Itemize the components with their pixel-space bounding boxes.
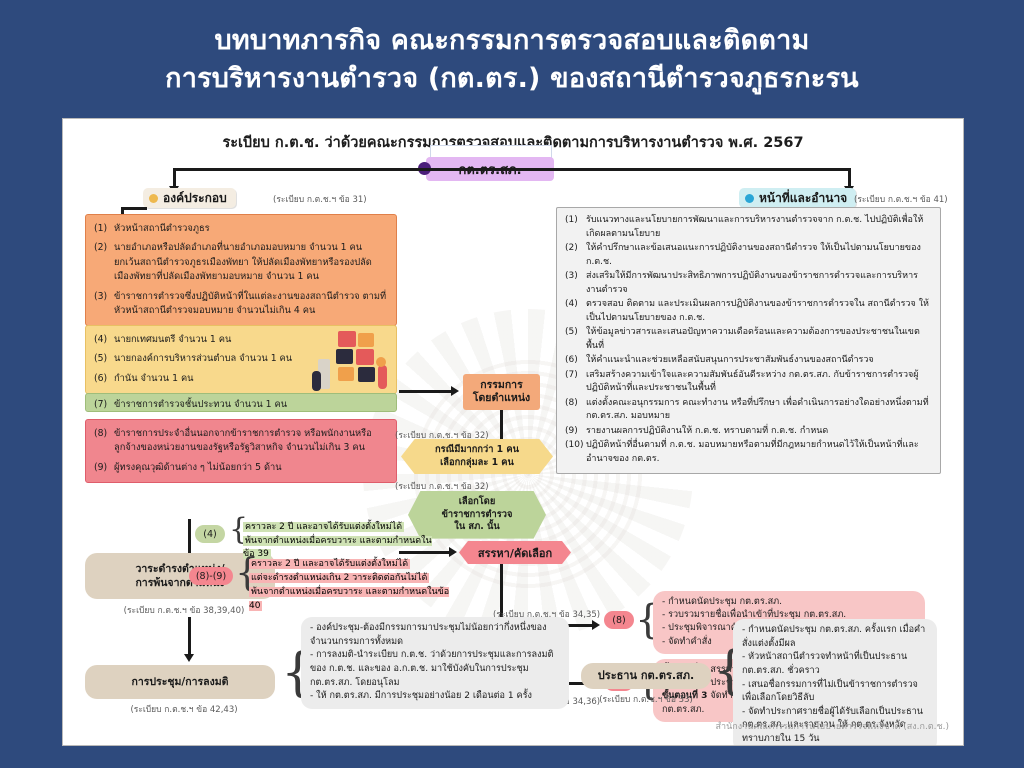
composition-group-pink: (8)ข้าราชการประจำอื่นนอกจากข้าราชการตำรว…: [85, 419, 397, 483]
step8-line-1: - กำหนดนัดประชุม กต.ตร.สภ.: [662, 596, 916, 609]
list-item: (6)ให้คำแนะนำและช่วยเหลือสนับสนุนการประช…: [565, 354, 932, 368]
item-number: (10): [565, 439, 583, 453]
list-item: (5)ให้ข้อมูลข่าวสารและเสนอปัญหาความเดือด…: [565, 326, 932, 353]
infographic-canvas: ระเบียบ ก.ต.ช. ว่าด้วยคณะกรรมการตรวจสอบแ…: [62, 118, 964, 746]
item-number: (4): [94, 333, 107, 347]
item-text: นายอำเภอหรือปลัดอำเภอที่นายอำเภอมอบหมาย …: [114, 242, 372, 282]
bullet-icon: [149, 194, 158, 203]
list-item: (9)ผู้ทรงคุณวุฒิด้านต่าง ๆ ไม่น้อยกว่า 5…: [94, 461, 388, 475]
item-number: (7): [565, 369, 578, 383]
meeting-notes-bubble: - องค์ประชุม-ต้องมีกรรมการมาประชุมไม่น้อ…: [301, 617, 569, 709]
conn-term-to-meeting: [188, 617, 191, 657]
list-item: (2)นายอำเภอหรือปลัดอำเภอที่นายอำเภอมอบหม…: [94, 241, 388, 284]
item-number: (7): [94, 398, 107, 412]
item-number: (3): [565, 270, 578, 284]
list-item: (7)เสริมสร้างความเข้าใจและความสัมพันธ์อั…: [565, 369, 932, 396]
trunk-right-drop: [848, 168, 851, 188]
item-text: นายกเทศมนตรี จำนวน 1 คน: [114, 334, 231, 345]
chairman-ref: (ระเบียบ ก.ต.ช.ฯ ข้อ 33): [581, 692, 711, 706]
branch-duties[interactable]: หน้าที่และอำนาจ: [739, 188, 856, 208]
item-text: นายกองค์การบริหารส่วนตำบล จำนวน 1 คน: [114, 353, 292, 364]
term-note-89: คราวละ 2 ปี และอาจได้รับแต่งตั้งใหม่ได้ …: [249, 558, 454, 614]
puzzle-illustration-icon: [308, 331, 392, 393]
item-number: (6): [565, 354, 578, 368]
meeting-node[interactable]: การประชุม/การลงมติ: [85, 665, 275, 699]
list-item: (8)ข้าราชการประจำอื่นนอกจากข้าราชการตำรว…: [94, 427, 388, 456]
duties-box: (1)รับแนวทางและนโยบายการพัฒนาและการบริหา…: [556, 207, 941, 474]
term-note89-line3: พ้นจากตำแหน่งเมื่อครบวาระ และตามกำหนดในข…: [249, 587, 449, 611]
item-text: รายงานผลการปฏิบัติงานให้ ก.ต.ช. ทราบตามท…: [586, 426, 828, 436]
item-text: ตรวจสอบ ติดตาม และประเมินผลการปฏิบัติงาน…: [586, 299, 929, 323]
item-number: (4): [565, 298, 578, 312]
item-text: ส่งเสริมให้มีการพัฒนาประสิทธิภาพการปฏิบั…: [586, 271, 918, 295]
note-green-ref: (ระเบียบ ก.ต.ช.ฯ ข้อ 32): [395, 479, 489, 493]
item-text: ให้ข้อมูลข่าวสารและเสนอปัญหาความเดือดร้อ…: [586, 327, 920, 351]
item-text: ให้คำปรึกษาและข้อเสนอแนะการปฏิบัติงานของ…: [586, 243, 921, 267]
composition-orange-list: (1)หัวหน้าสถานีตำรวจภูธร (2)นายอำเภอหรือ…: [94, 222, 388, 318]
term-note89-line1: คราวละ 2 ปี และอาจได้รับแต่งตั้งใหม่ได้: [249, 559, 410, 569]
marker-4-label: (4): [203, 529, 216, 540]
list-item: (7)ข้าราชการตำรวจชั้นประทวน จำนวน 1 คน: [94, 398, 388, 412]
item-text: ปฏิบัติหน้าที่อื่นตามที่ ก.ต.ช. มอบหมายห…: [586, 440, 919, 464]
branch-composition-label: องค์ประกอบ: [163, 189, 227, 208]
marker-8-9-label: (8)-(9): [196, 571, 226, 582]
term-note4-line1: คราวละ 2 ปี และอาจได้รับแต่งตั้งใหม่ได้: [243, 522, 404, 532]
arrow-right-icon: [592, 620, 600, 630]
item-number: (2): [94, 241, 107, 255]
chairman-note-3: - เสนอชื่อกรรมการที่ไม่เป็นข้าราชการตำรว…: [742, 679, 928, 706]
list-item: (9)รายงานผลการปฏิบัติงานให้ ก.ต.ช. ทราบต…: [565, 425, 932, 439]
recruit-label: สรรหา/คัดเลือก: [478, 544, 552, 562]
item-number: (8): [94, 427, 107, 441]
ex-officio-line2: โดยตำแหน่ง: [473, 392, 530, 405]
ex-officio-node[interactable]: กรรมการ โดยตำแหน่ง: [463, 374, 540, 410]
conn-orange-to-exofficio: [399, 390, 451, 393]
note-yellow: กรณีมีมากกว่า 1 คน เลือกกลุ่มละ 1 คน: [401, 439, 553, 474]
item-text: ให้คำแนะนำและช่วยเหลือสนับสนุนการประชาสั…: [586, 355, 874, 365]
composition-spine-h: [121, 207, 147, 210]
note-green-line2: ข้าราชการตำรวจ: [442, 509, 513, 520]
list-item: (10)ปฏิบัติหน้าที่อื่นตามที่ ก.ต.ช. มอบห…: [565, 439, 932, 466]
chairman-label: ประธาน กต.ตร.สภ.: [598, 669, 694, 684]
recruit-node[interactable]: สรรหา/คัดเลือก: [459, 541, 571, 564]
title-line-2: การบริหารงานตำรวจ (กต.ตร.) ของสถานีตำรวจ…: [0, 60, 1024, 98]
trunk-left-drop: [173, 168, 176, 188]
chairman-note-2: - หัวหน้าสถานีตำรวจทำหน้าที่เป็นประธาน ก…: [742, 651, 928, 678]
chairman-note-1: - กำหนดนัดประชุม กต.ตร.สภ. ครั้งแรก เมื่…: [742, 624, 928, 651]
branch-duties-ref: (ระเบียบ ก.ต.ช.ฯ ข้อ 41): [854, 192, 948, 206]
term-note89-line2: แต่จะดำรงตำแหน่งเกิน 2 วาระติดต่อกันไม่ไ…: [249, 573, 429, 583]
meeting-label: การประชุม/การลงมติ: [132, 675, 229, 689]
meeting-ref: (ระเบียบ ก.ต.ช.ฯ ข้อ 42,43): [89, 702, 279, 716]
item-number: (2): [565, 242, 578, 256]
page-title: บทบาทภารกิจ คณะกรรมการตรวจสอบและติดตาม ก…: [0, 22, 1024, 99]
duties-list: (1)รับแนวทางและนโยบายการพัฒนาและการบริหา…: [565, 214, 932, 466]
item-number: (9): [565, 425, 578, 439]
list-item: (8)แต่งตั้งคณะอนุกรรมการ คณะทำงาน หรือที…: [565, 397, 932, 424]
term-note-4: คราวละ 2 ปี และอาจได้รับแต่งตั้งใหม่ได้ …: [243, 521, 443, 562]
note-green-line3: ใน สภ. นั้น: [454, 521, 499, 532]
list-item: (1)รับแนวทางและนโยบายการพัฒนาและการบริหา…: [565, 214, 932, 241]
item-number: (5): [94, 352, 107, 366]
meeting-note-3: - ให้ กต.ตร.สภ. มีการประชุมอย่างน้อย 2 เ…: [310, 690, 560, 704]
composition-group-green: (7)ข้าราชการตำรวจชั้นประทวน จำนวน 1 คน: [85, 393, 397, 412]
item-text: แต่งตั้งคณะอนุกรรมการ คณะทำงาน หรือที่ปร…: [586, 398, 929, 422]
chairman-node[interactable]: ประธาน กต.ตร.สภ.: [581, 663, 711, 689]
meeting-note-2: - การลงมติ-นำระเบียบ ก.ต.ช. ว่าด้วยการปร…: [310, 649, 560, 690]
item-text: ข้าราชการตำรวจชั้นประทวน จำนวน 1 คน: [114, 399, 287, 410]
trunk-line: [175, 168, 851, 171]
marker-8-label: (8): [612, 615, 625, 626]
list-item: (3)ส่งเสริมให้มีการพัฒนาประสิทธิภาพการปฏ…: [565, 270, 932, 297]
list-item: (1)หัวหน้าสถานีตำรวจภูธร: [94, 222, 388, 236]
item-number: (8): [565, 397, 578, 411]
composition-pink-list: (8)ข้าราชการประจำอื่นนอกจากข้าราชการตำรว…: [94, 427, 388, 475]
item-number: (9): [94, 461, 107, 475]
note-green-line1: เลือกโดย: [459, 496, 496, 507]
item-number: (3): [94, 290, 107, 304]
item-number: (1): [94, 222, 107, 236]
item-text: รับแนวทางและนโยบายการพัฒนาและการบริหารงา…: [586, 215, 923, 239]
item-text: เสริมสร้างความเข้าใจและความสัมพันธ์อันดี…: [586, 370, 919, 394]
list-item: (4)ตรวจสอบ ติดตาม และประเมินผลการปฏิบัติ…: [565, 298, 932, 325]
arrow-right-icon: [449, 547, 457, 557]
ex-officio-line1: กรรมการ: [480, 379, 522, 392]
note-yellow-line2: เลือกกลุ่มละ 1 คน: [440, 457, 514, 468]
meeting-note-1: - องค์ประชุม-ต้องมีกรรมการมาประชุมไม่น้อ…: [310, 622, 560, 649]
item-text: กำนัน จำนวน 1 คน: [114, 373, 194, 384]
source-footer: สำนักงานคณะกรรมการนโยบายตำรวจแห่งชาติ (ส…: [63, 719, 949, 733]
branch-composition[interactable]: องค์ประกอบ: [143, 188, 236, 208]
composition-green-list: (7)ข้าราชการตำรวจชั้นประทวน จำนวน 1 คน: [94, 398, 388, 412]
note-yellow-line1: กรณีมีมากกว่า 1 คน: [435, 444, 519, 455]
branch-composition-ref: (ระเบียบ ก.ต.ช.ฯ ข้อ 31): [273, 192, 367, 206]
item-number: (1): [565, 214, 578, 228]
item-number: (5): [565, 326, 578, 340]
item-text: ผู้ทรงคุณวุฒิด้านต่าง ๆ ไม่น้อยกว่า 5 ด้…: [114, 462, 282, 473]
term-note4-line2: พ้นจากตำแหน่งเมื่อครบวาระ และตามกำหนดในข…: [243, 536, 432, 560]
list-item: (2)ให้คำปรึกษาและข้อเสนอแนะการปฏิบัติงาน…: [565, 242, 932, 269]
marker-4: (4): [195, 525, 225, 543]
title-line-1: บทบาทภารกิจ คณะกรรมการตรวจสอบและติดตาม: [0, 22, 1024, 60]
item-text: ข้าราชการประจำอื่นนอกจากข้าราชการตำรวจ ห…: [114, 428, 372, 453]
list-item: (3)ข้าราชการตำรวจซึ่งปฏิบัติหน้าที่ในแต่…: [94, 290, 388, 319]
arrow-down-icon: [184, 654, 194, 662]
item-text: ข้าราชการตำรวจซึ่งปฏิบัติหน้าที่ในแต่ละง…: [114, 291, 386, 316]
marker-8: (8): [604, 611, 634, 629]
slide-root: บทบาทภารกิจ คณะกรรมการตรวจสอบและติดตาม ก…: [0, 0, 1024, 768]
item-text: หัวหน้าสถานีตำรวจภูธร: [114, 223, 210, 234]
composition-group-orange: (1)หัวหน้าสถานีตำรวจภูธร (2)นายอำเภอหรือ…: [85, 214, 397, 326]
item-number: (6): [94, 372, 107, 386]
branch-duties-label: หน้าที่และอำนาจ: [759, 189, 847, 208]
arrow-right-icon: [451, 386, 459, 396]
bullet-icon: [745, 194, 754, 203]
marker-8-9: (8)-(9): [189, 567, 233, 585]
